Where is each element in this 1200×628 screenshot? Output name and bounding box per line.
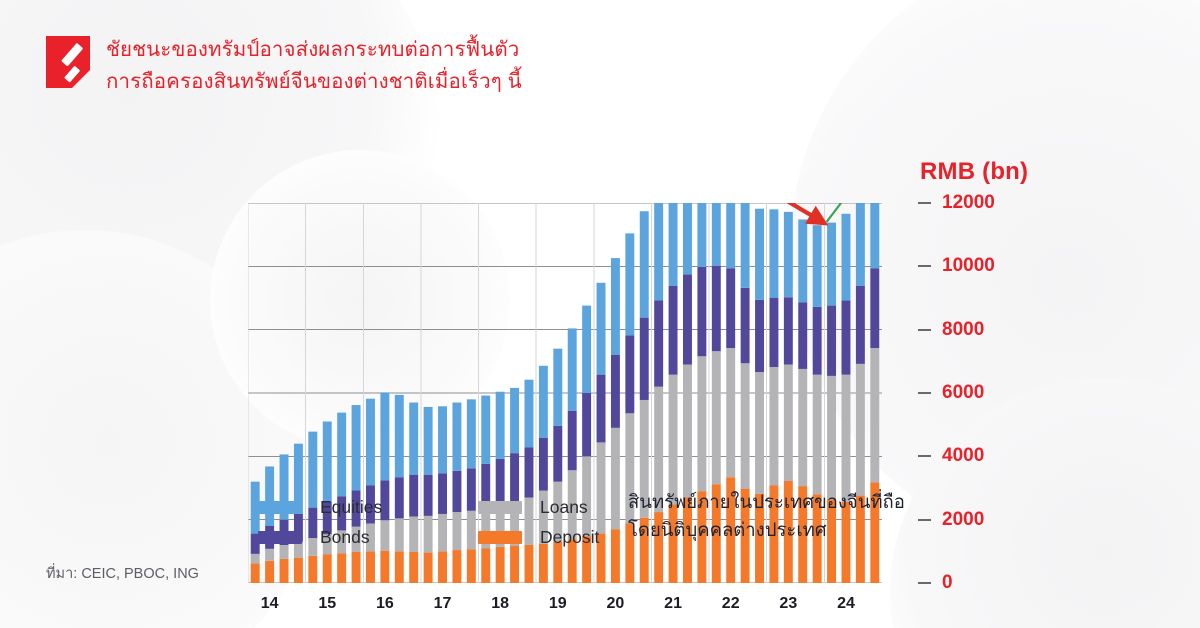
bar-segment-equities xyxy=(683,203,692,275)
bar-segment-equities xyxy=(726,203,735,268)
y-axis-label: 0 xyxy=(942,572,953,594)
bar-segment-deposit xyxy=(409,552,418,583)
bar-segment-bonds xyxy=(798,302,807,369)
y-axis-label: 12000 xyxy=(942,192,995,214)
bar-segment-deposit xyxy=(467,549,476,583)
y-axis-label: 8000 xyxy=(942,319,984,341)
bar-segment-bonds xyxy=(827,306,836,376)
callout-line-2: โดยนิติบุคคลต่างประเทศ xyxy=(628,516,905,544)
y-axis-tick xyxy=(918,202,931,204)
title-line-2: การถือครองสินทรัพย์จีนของต่างชาติเมื่อเร… xyxy=(106,66,522,98)
bar-segment-deposit xyxy=(395,551,404,583)
bar-segment-loans xyxy=(827,376,836,500)
bar-segment-bonds xyxy=(640,318,649,400)
x-axis-label: 18 xyxy=(491,595,509,613)
x-axis-label: 16 xyxy=(376,595,394,613)
bar-segment-bonds xyxy=(726,268,735,348)
bar-segment-loans xyxy=(669,375,678,505)
bar-segment-bonds xyxy=(597,375,606,443)
chart: RMB (bn) -14.7%+12.6% 020004000600080001… xyxy=(0,140,1200,480)
bar-segment-bonds xyxy=(669,286,678,375)
bar-segment-bonds xyxy=(582,393,591,456)
legend-label: Bonds xyxy=(320,527,370,548)
x-axis-label: 22 xyxy=(722,595,740,613)
x-axis-label: 19 xyxy=(549,595,567,613)
bar-segment-loans xyxy=(741,363,750,488)
bar-segment-equities xyxy=(539,366,548,438)
callout-line-1: สินทรัพย์ภายในประเทศของจีนที่ถือ xyxy=(628,488,905,516)
y-axis-tick xyxy=(918,455,931,457)
bar-segment-equities xyxy=(452,403,461,471)
bar-segment-equities xyxy=(481,396,490,464)
bar-segment-deposit xyxy=(265,561,274,583)
chart-callout: สินทรัพย์ภายในประเทศของจีนที่ถือ โดยนิติ… xyxy=(628,488,905,544)
legend-label: Deposit xyxy=(540,527,599,548)
bar-segment-equities xyxy=(654,203,663,301)
bar-segment-deposit xyxy=(308,556,317,583)
bar-segment-deposit xyxy=(251,563,260,583)
source-note: ที่มา: CEIC, PBOC, ING xyxy=(46,562,199,585)
x-axis-label: 24 xyxy=(837,595,855,613)
legend-item-equities[interactable]: Equities xyxy=(258,492,478,522)
bar-segment-loans xyxy=(798,369,807,486)
bar-segment-loans xyxy=(697,356,706,491)
y-axis-tick xyxy=(918,519,931,521)
bar-segment-bonds xyxy=(784,297,793,364)
y-axis-tick xyxy=(918,582,931,584)
bar-segment-bonds xyxy=(842,301,851,375)
bar-segment-equities xyxy=(769,209,778,298)
bar-segment-bonds xyxy=(539,438,548,491)
y-axis-label: 4000 xyxy=(942,445,984,467)
bar-segment-bonds xyxy=(568,411,577,471)
bar-segment-loans xyxy=(251,554,260,564)
bar-segment-deposit xyxy=(337,553,346,583)
bar-segment-bonds xyxy=(856,286,865,364)
bar-segment-equities xyxy=(395,395,404,477)
bar-segment-equities xyxy=(409,403,418,475)
bar-segment-loans xyxy=(769,367,778,485)
bar-segment-loans xyxy=(813,375,822,495)
bar-segment-bonds xyxy=(525,447,534,497)
bar-segment-equities xyxy=(467,399,476,468)
bar-segment-loans xyxy=(683,365,692,498)
bar-segment-equities xyxy=(856,203,865,286)
bar-segment-loans xyxy=(712,351,721,484)
page-title: ชัยชนะของทรัมป์อาจส่งผลกระทบต่อการฟื้นตั… xyxy=(106,34,522,98)
bar-segment-equities xyxy=(597,283,606,375)
bar-segment-loans xyxy=(755,372,764,494)
bar-segment-equities xyxy=(496,392,505,459)
bar-segment-bonds xyxy=(769,298,778,367)
bar-segment-deposit xyxy=(438,551,447,583)
bar-segment-deposit xyxy=(294,558,303,583)
bar-segment-deposit xyxy=(380,551,389,583)
bar-segment-equities xyxy=(582,306,591,393)
bar-segment-equities xyxy=(323,422,332,502)
bar-segment-bonds xyxy=(625,335,634,413)
bar-segment-deposit xyxy=(452,550,461,583)
bar-segment-equities xyxy=(366,399,375,486)
bar-segment-bonds xyxy=(683,275,692,365)
bar-segment-equities xyxy=(784,212,793,298)
x-axis-label: 14 xyxy=(261,595,279,613)
ing-lion-mark-icon xyxy=(46,36,90,88)
bar-segment-equities xyxy=(525,380,534,448)
y-axis-tick xyxy=(918,265,931,267)
y-axis-label: 10000 xyxy=(942,255,995,277)
bar-segment-deposit xyxy=(481,548,490,583)
legend-label: Equities xyxy=(320,497,382,518)
bar-segment-equities xyxy=(870,203,879,268)
bar-segment-deposit xyxy=(424,553,433,583)
bar-segment-deposit xyxy=(366,551,375,583)
bar-segment-bonds xyxy=(553,426,562,482)
legend-swatch-deposit xyxy=(478,531,522,544)
bar-segment-bonds xyxy=(870,268,879,348)
bar-segment-equities xyxy=(741,203,750,288)
bar-segment-loans xyxy=(784,365,793,482)
bar-segment-equities xyxy=(611,258,620,355)
bar-segment-bonds xyxy=(654,301,663,387)
y-axis-unit-label: RMB (bn) xyxy=(920,158,1028,186)
bar-segment-bonds xyxy=(755,300,764,372)
bar-segment-equities xyxy=(568,328,577,410)
x-axis-label: 17 xyxy=(434,595,452,613)
x-axis: 1415161718192021222324 xyxy=(0,595,1200,625)
bar-segment-equities xyxy=(510,388,519,453)
bar-segment-deposit xyxy=(496,547,505,583)
legend-swatch-bonds xyxy=(258,531,302,544)
bar-segment-equities xyxy=(755,209,764,300)
bar-segment-equities xyxy=(827,223,836,306)
bar-segment-loans xyxy=(870,348,879,482)
bar-segment-equities xyxy=(842,214,851,301)
bar-segment-equities xyxy=(337,413,346,497)
bar-segment-loans xyxy=(726,348,735,477)
bar-segment-equities xyxy=(380,392,389,480)
y-axis-tick xyxy=(918,392,931,394)
y-axis: 020004000600080001000012000 xyxy=(918,190,1048,590)
title-line-1: ชัยชนะของทรัมป์อาจส่งผลกระทบต่อการฟื้นตั… xyxy=(106,34,522,66)
y-axis-label: 6000 xyxy=(942,382,984,404)
legend-swatch-equities xyxy=(258,501,302,514)
bar-segment-equities xyxy=(798,219,807,302)
header: ชัยชนะของทรัมป์อาจส่งผลกระทบต่อการฟื้นตั… xyxy=(46,34,522,98)
x-axis-label: 20 xyxy=(607,595,625,613)
bar-segment-deposit xyxy=(323,555,332,584)
bar-segment-loans xyxy=(842,375,851,502)
bar-segment-bonds xyxy=(813,307,822,375)
legend-item-bonds[interactable]: Bonds xyxy=(258,522,478,552)
bar-segment-deposit xyxy=(352,552,361,583)
bar-segment-equities xyxy=(438,406,447,473)
bar-segment-equities xyxy=(640,211,649,317)
x-axis-label: 21 xyxy=(664,595,682,613)
bar-segment-bonds xyxy=(611,355,620,428)
bar-segment-equities xyxy=(669,203,678,286)
bar-segment-equities xyxy=(553,349,562,426)
x-axis-label: 23 xyxy=(779,595,797,613)
bar-segment-equities xyxy=(813,225,822,307)
legend-label: Loans xyxy=(540,497,588,518)
bar-segment-equities xyxy=(697,203,706,267)
bar-segment-equities xyxy=(424,407,433,475)
bar-segment-bonds xyxy=(712,266,721,352)
bar-segment-equities xyxy=(352,405,361,491)
y-axis-tick xyxy=(918,329,931,331)
x-axis-label: 15 xyxy=(318,595,336,613)
bar-segment-equities xyxy=(625,233,634,335)
bar-segment-equities xyxy=(712,203,721,266)
bar-segment-bonds xyxy=(741,288,750,363)
bar-segment-loans xyxy=(856,364,865,496)
legend-swatch-loans xyxy=(478,501,522,514)
bar-segment-bonds xyxy=(697,267,706,356)
bar-segment-deposit xyxy=(280,559,289,583)
y-axis-label: 2000 xyxy=(942,509,984,531)
